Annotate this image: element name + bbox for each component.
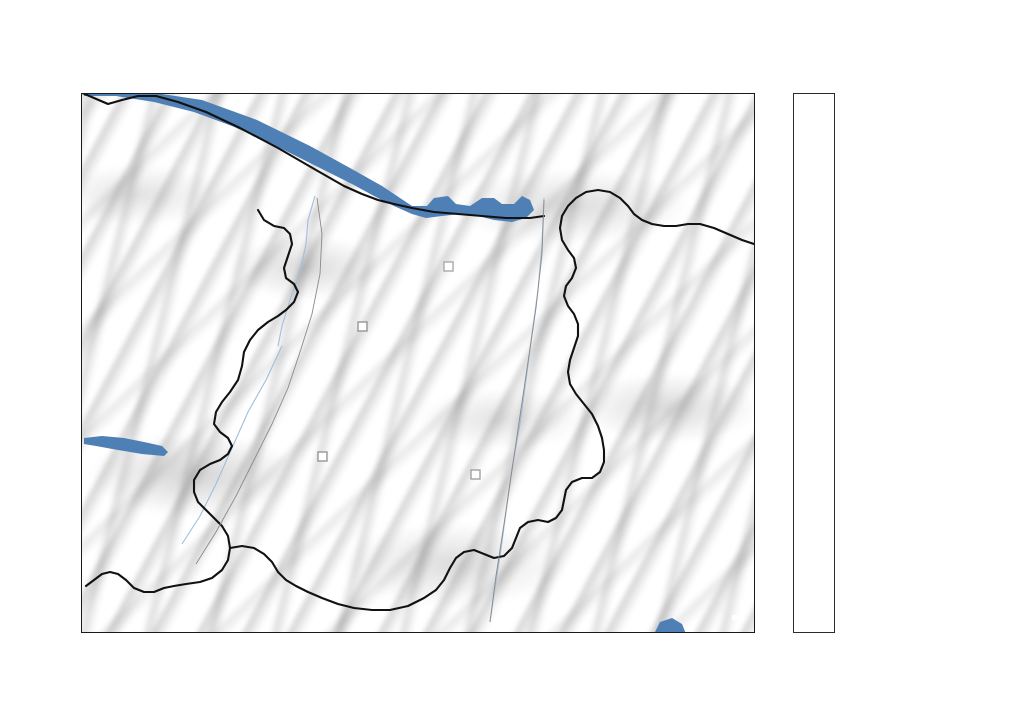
administrative-boundaries bbox=[82, 94, 754, 610]
copyright-label bbox=[732, 615, 744, 620]
river-network bbox=[182, 196, 544, 622]
station-marker bbox=[444, 262, 453, 271]
secondary-district-lines bbox=[196, 198, 544, 622]
station-marker bbox=[358, 322, 367, 331]
lake-upper-left bbox=[84, 94, 537, 222]
lake-bottom-edge bbox=[654, 618, 686, 633]
colorbar bbox=[793, 93, 835, 633]
station-marker bbox=[318, 452, 327, 461]
map-frame[interactable] bbox=[81, 93, 755, 633]
map-canvas bbox=[82, 94, 754, 632]
station-marker bbox=[471, 470, 480, 479]
station-markers[interactable] bbox=[318, 262, 480, 479]
lake-lower-left bbox=[84, 436, 168, 456]
map-vector-overlay bbox=[82, 94, 755, 633]
